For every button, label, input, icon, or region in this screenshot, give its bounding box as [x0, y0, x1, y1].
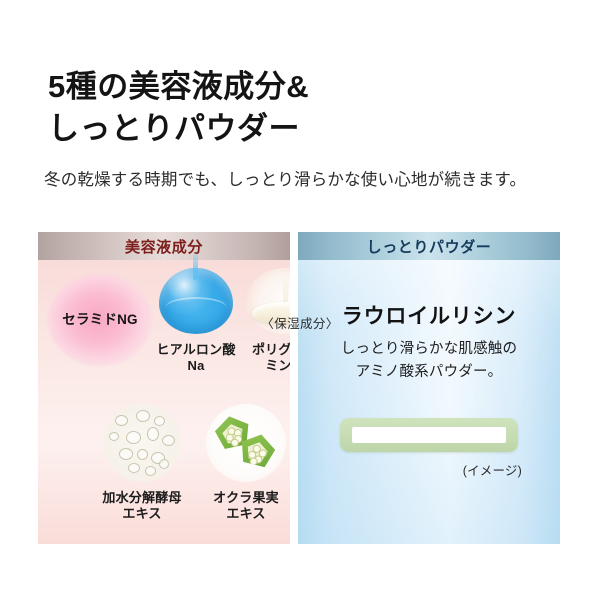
page-title-line-1: 5種の美容液成分&	[48, 66, 568, 108]
ingredient-okra-fruit-extract: オクラ果実 エキス	[194, 404, 290, 522]
powder-description-line-2: アミノ酸系パウダー。	[298, 361, 560, 384]
powder-image-caption: (イメージ)	[298, 460, 560, 479]
panel-left-header-band: 美容液成分	[38, 232, 290, 260]
powder-description: しっとり滑らかな肌感触の アミノ酸系パウダー。	[298, 338, 560, 385]
ingredient-okra-fruit-extract-label-line-1: オクラ果実	[194, 490, 290, 506]
moisturizing-ingredients-footnote: 〈保湿成分〉	[0, 313, 600, 332]
panel-left-header-label: 美容液成分	[125, 236, 203, 257]
powder-swatch-inner	[352, 427, 506, 443]
ingredient-hydrolyzed-yeast-extract: 加水分解酵母 エキス	[90, 404, 194, 522]
ingredient-polyglutamic-acid-label-line-2: ミン酸	[242, 358, 290, 374]
panel-right-header-band: しっとりパウダー	[298, 232, 560, 260]
yeast-microscope-icon	[103, 404, 181, 482]
page-subtitle: 冬の乾燥する時期でも、しっとり滑らかな使い心地が続きます。	[44, 166, 526, 190]
ingredient-hydrolyzed-yeast-extract-label-line-2: エキス	[90, 506, 194, 522]
panel-moist-powder: しっとりパウダー ラウロイルリシン しっとり滑らかな肌感触の アミノ酸系パウダー…	[298, 232, 560, 544]
ingredient-polyglutamic-acid-label-line-1: ポリグルタ	[242, 342, 290, 358]
panels-row: 美容液成分 セラミドNG ヒアルロン酸 Na ポリグルタ ミン酸	[0, 232, 600, 544]
panel-right-background-overlay	[298, 232, 560, 544]
ingredient-hydrolyzed-yeast-extract-label-line-1: 加水分解酵母	[90, 490, 194, 506]
ingredient-hyaluronic-acid-label-line-1: ヒアルロン酸	[150, 342, 242, 358]
panel-serum-ingredients: 美容液成分 セラミドNG ヒアルロン酸 Na ポリグルタ ミン酸	[38, 232, 290, 544]
ingredient-hyaluronic-acid-label-line-2: Na	[150, 358, 242, 374]
page-title: 5種の美容液成分& しっとりパウダー	[48, 66, 568, 149]
powder-description-line-1: しっとり滑らかな肌感触の	[298, 338, 560, 361]
panel-right-header-label: しっとりパウダー	[367, 236, 492, 257]
okra-slices-icon	[206, 404, 286, 482]
powder-swatch-image	[340, 418, 518, 452]
ingredient-okra-fruit-extract-label-line-2: エキス	[194, 506, 290, 522]
page-title-line-2: しっとりパウダー	[48, 108, 568, 150]
